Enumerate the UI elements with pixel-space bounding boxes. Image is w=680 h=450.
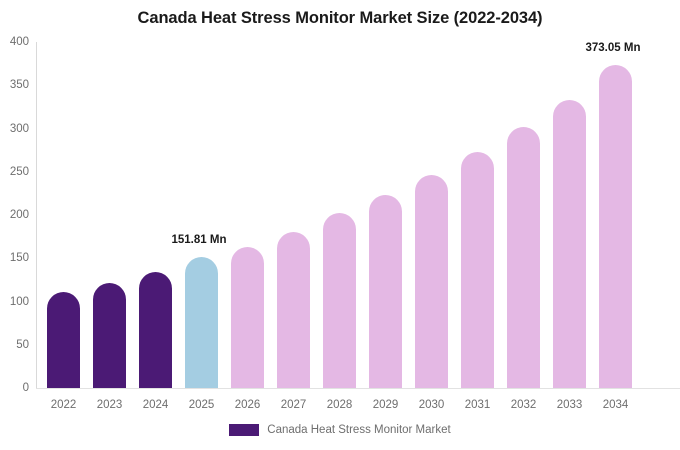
bar-2032[interactable] <box>507 127 540 388</box>
bar-slot-2030: 2030 <box>415 42 448 388</box>
bar-slot-2031: 2031 <box>461 42 494 388</box>
x-axis-tick-2024: 2024 <box>139 388 172 411</box>
x-axis-tick-2034: 2034 <box>599 388 632 411</box>
bar-2024[interactable] <box>139 272 172 388</box>
bar-slot-2028: 2028 <box>323 42 356 388</box>
x-axis-tick-2025: 2025 <box>185 388 218 411</box>
x-axis-tick-2029: 2029 <box>369 388 402 411</box>
x-axis-tick-2031: 2031 <box>461 388 494 411</box>
chart-title: Canada Heat Stress Monitor Market Size (… <box>0 9 680 28</box>
y-axis-tick-300: 300 <box>10 123 29 135</box>
x-axis-tick-2026: 2026 <box>231 388 264 411</box>
y-axis-tick-200: 200 <box>10 209 29 221</box>
chart-legend: Canada Heat Stress Monitor Market <box>0 424 680 436</box>
bar-slot-2024: 2024 <box>139 42 172 388</box>
bar-2033[interactable] <box>553 100 586 388</box>
x-axis-tick-2030: 2030 <box>415 388 448 411</box>
x-axis-tick-2033: 2033 <box>553 388 586 411</box>
bar-slot-2032: 2032 <box>507 42 540 388</box>
bar-2026[interactable] <box>231 247 264 388</box>
bar-chart: Canada Heat Stress Monitor Market Size (… <box>0 0 680 450</box>
bar-2029[interactable] <box>369 195 402 388</box>
legend-swatch-canada-heat-stress-monitor-market <box>229 424 259 436</box>
bar-2022[interactable] <box>47 292 80 388</box>
bar-2027[interactable] <box>277 232 310 388</box>
bar-slot-2023: 2023 <box>93 42 126 388</box>
bar-slot-2033: 2033 <box>553 42 586 388</box>
bar-slot-2022: 2022 <box>47 42 80 388</box>
x-axis-tick-2028: 2028 <box>323 388 356 411</box>
y-axis-tick-50: 50 <box>16 339 29 351</box>
value-label-2034: 373.05 Mn <box>586 42 641 54</box>
bar-slot-2029: 2029 <box>369 42 402 388</box>
x-axis-tick-2027: 2027 <box>277 388 310 411</box>
plot-area: 050100150200250300350400 202220232024202… <box>36 42 680 388</box>
y-axis-tick-350: 350 <box>10 79 29 91</box>
bar-2025[interactable] <box>185 257 218 388</box>
bar-slot-2027: 2027 <box>277 42 310 388</box>
bar-slot-2025: 2025 <box>185 42 218 388</box>
y-axis-tick-0: 0 <box>23 382 29 394</box>
y-axis-tick-150: 150 <box>10 252 29 264</box>
y-axis-tick-250: 250 <box>10 166 29 178</box>
y-axis-tick-100: 100 <box>10 296 29 308</box>
bar-2034[interactable] <box>599 65 632 388</box>
x-axis-tick-2032: 2032 <box>507 388 540 411</box>
value-label-2025: 151.81 Mn <box>172 234 227 246</box>
y-axis-line <box>36 42 37 388</box>
bar-2031[interactable] <box>461 152 494 388</box>
bar-2030[interactable] <box>415 175 448 388</box>
x-axis-tick-2023: 2023 <box>93 388 126 411</box>
bar-slot-2026: 2026 <box>231 42 264 388</box>
bar-2028[interactable] <box>323 213 356 388</box>
y-axis-tick-400: 400 <box>10 36 29 48</box>
x-axis-tick-2022: 2022 <box>47 388 80 411</box>
bar-2023[interactable] <box>93 283 126 388</box>
bar-slot-2034: 2034 <box>599 42 632 388</box>
legend-label-canada-heat-stress-monitor-market: Canada Heat Stress Monitor Market <box>267 424 450 436</box>
